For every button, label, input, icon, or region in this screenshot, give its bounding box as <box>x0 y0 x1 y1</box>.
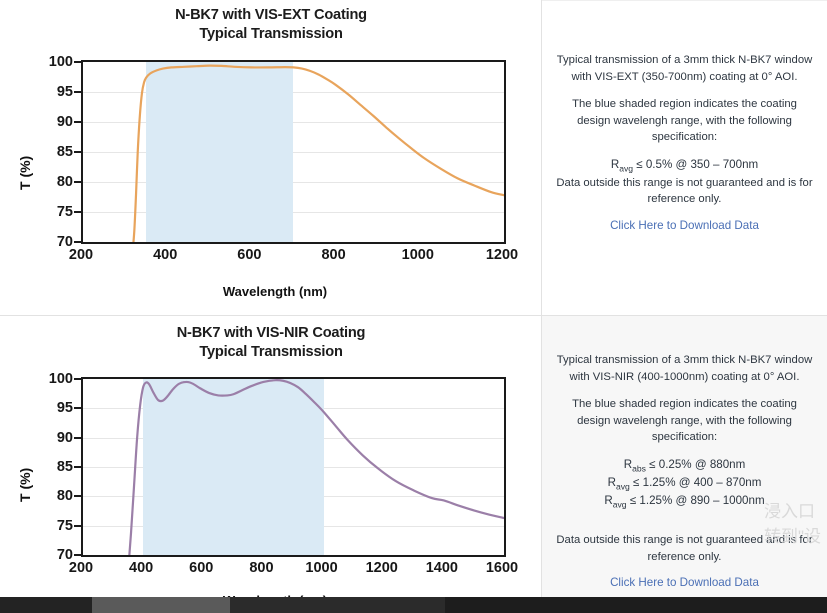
y-tick-label: 80 <box>39 488 73 504</box>
x-tick-label: 1000 <box>292 560 352 576</box>
chart-1-title: N-BK7 with VIS-EXT Coating Typical Trans… <box>0 6 542 44</box>
chart-2-title-line1: N-BK7 with VIS-NIR Coating <box>177 325 366 341</box>
download-data-link-1[interactable]: Click Here to Download Data <box>610 217 759 234</box>
curve-layer <box>83 379 504 555</box>
y-tick-label: 75 <box>39 204 73 220</box>
x-tick-label: 1000 <box>388 247 448 263</box>
y-tick-label: 80 <box>39 174 73 190</box>
x-tick-label: 1600 <box>472 560 532 576</box>
y-tick-label: 85 <box>39 459 73 475</box>
x-tick-label: 1200 <box>472 247 532 263</box>
curve-layer <box>83 62 504 242</box>
chart-pane-2: N-BK7 with VIS-NIR Coating Typical Trans… <box>0 316 542 597</box>
desc-2-paragraph-3: Data outside this range is not guarantee… <box>556 532 813 565</box>
desc-1-paragraph-3: Data outside this range is not guarantee… <box>556 175 813 208</box>
transmission-curve <box>133 66 504 244</box>
y-tick-mark <box>74 495 81 497</box>
y-tick-label: 100 <box>39 371 73 387</box>
x-tick-label: 800 <box>231 560 291 576</box>
x-tick-label: 600 <box>171 560 231 576</box>
y-tick-mark <box>74 241 81 243</box>
x-tick-label: 400 <box>111 560 171 576</box>
desc-1-paragraph-2: The blue shaded region indicates the coa… <box>556 96 813 146</box>
chart-1-title-line1: N-BK7 with VIS-EXT Coating <box>175 7 367 23</box>
y-tick-label: 95 <box>39 84 73 100</box>
chart-1-plot-area <box>81 60 506 244</box>
chart-2-plot-area <box>81 377 506 557</box>
y-tick-label: 85 <box>39 144 73 160</box>
y-tick-label: 90 <box>39 430 73 446</box>
download-data-link-2[interactable]: Click Here to Download Data <box>610 574 759 591</box>
transmission-curve <box>129 380 504 557</box>
os-taskbar[interactable] <box>0 597 827 613</box>
y-tick-mark <box>74 151 81 153</box>
y-tick-label: 90 <box>39 114 73 130</box>
y-tick-mark <box>74 61 81 63</box>
x-tick-label: 1200 <box>352 560 412 576</box>
y-tick-mark <box>74 554 81 556</box>
desc-2-paragraph-1: Typical transmission of a 3mm thick N-BK… <box>556 352 813 385</box>
taskbar-segment-active[interactable] <box>92 597 230 613</box>
chart-2-title: N-BK7 with VIS-NIR Coating Typical Trans… <box>0 324 542 362</box>
desc-1-specs: Ravg ≤ 0.5% @ 350 – 700nm <box>556 157 813 175</box>
taskbar-segment-start[interactable] <box>0 597 92 613</box>
y-tick-mark <box>74 121 81 123</box>
chart-1-x-axis-label: Wavelength (nm) <box>40 284 510 299</box>
y-tick-mark <box>74 91 81 93</box>
y-tick-label: 75 <box>39 518 73 534</box>
x-tick-label: 200 <box>51 247 111 263</box>
spec-line: Ravg ≤ 1.25% @ 890 – 1000nm <box>556 493 813 511</box>
chart-1-y-axis-label: T (%) <box>17 130 33 190</box>
chart-2-title-line2: Typical Transmission <box>0 343 542 362</box>
chart-pane-1: N-BK7 with VIS-EXT Coating Typical Trans… <box>0 0 542 315</box>
y-tick-mark <box>74 378 81 380</box>
description-pane-2: Typical transmission of a 3mm thick N-BK… <box>542 316 827 597</box>
page-root: N-BK7 with VIS-EXT Coating Typical Trans… <box>0 0 827 613</box>
x-tick-label: 1400 <box>412 560 472 576</box>
x-tick-label: 800 <box>304 247 364 263</box>
y-tick-label: 95 <box>39 400 73 416</box>
desc-1-paragraph-1: Typical transmission of a 3mm thick N-BK… <box>556 52 813 85</box>
description-pane-1: Typical transmission of a 3mm thick N-BK… <box>542 0 827 315</box>
y-tick-mark <box>74 437 81 439</box>
y-tick-mark <box>74 211 81 213</box>
y-tick-mark <box>74 181 81 183</box>
spec-line: Ravg ≤ 0.5% @ 350 – 700nm <box>556 157 813 175</box>
x-tick-label: 200 <box>51 560 111 576</box>
desc-2-paragraph-2: The blue shaded region indicates the coa… <box>556 396 813 446</box>
y-tick-mark <box>74 525 81 527</box>
spec-line: Ravg ≤ 1.25% @ 400 – 870nm <box>556 475 813 493</box>
taskbar-segment-items[interactable] <box>230 597 445 613</box>
y-tick-mark <box>74 466 81 468</box>
desc-2-specs: Rabs ≤ 0.25% @ 880nmRavg ≤ 1.25% @ 400 –… <box>556 457 813 510</box>
y-tick-mark <box>74 407 81 409</box>
chart-2-y-axis-label: T (%) <box>17 442 33 502</box>
chart-row-1: N-BK7 with VIS-EXT Coating Typical Trans… <box>0 0 827 315</box>
y-tick-label: 100 <box>39 54 73 70</box>
chart-1-title-line2: Typical Transmission <box>0 25 542 44</box>
x-tick-label: 600 <box>219 247 279 263</box>
spec-line: Rabs ≤ 0.25% @ 880nm <box>556 457 813 475</box>
x-tick-label: 400 <box>135 247 195 263</box>
chart-row-2: N-BK7 with VIS-NIR Coating Typical Trans… <box>0 316 827 597</box>
